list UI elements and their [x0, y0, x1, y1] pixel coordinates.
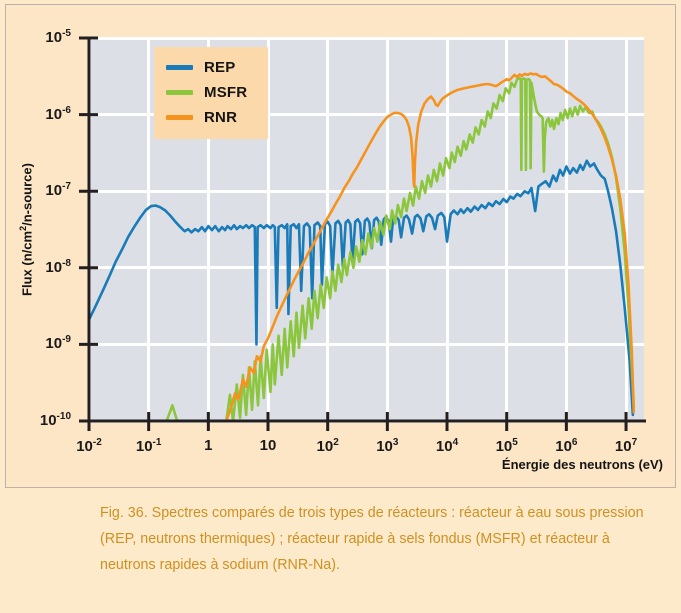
figure-caption: Fig. 36. Spectres comparés de trois type…	[100, 500, 660, 578]
legend-label-rnr: RNR	[204, 109, 237, 126]
x-tick-label-1: 10-1	[119, 438, 179, 454]
legend-label-rep: REP	[204, 59, 235, 76]
y-tick-label-1: 10-6	[45, 106, 71, 122]
legend-label-msfr: MSFR	[204, 84, 247, 101]
chart-legend[interactable]: REPMSFRRNR	[154, 47, 268, 139]
figure-container: 10-510-610-710-810-910-1010-210-11101021…	[0, 0, 681, 613]
y-tick-label-3: 10-8	[45, 259, 71, 275]
y-tick-label-5: 10-10	[40, 412, 71, 428]
x-tick-label-4: 102	[298, 438, 358, 454]
x-tick-label-7: 105	[477, 438, 537, 454]
y-tick-label-4: 10-9	[45, 335, 71, 351]
legend-swatch-rnr	[166, 115, 193, 120]
y-tick-label-0: 10-5	[45, 29, 71, 45]
series-line-rep	[89, 161, 633, 415]
y-axis-label: Flux (n/cm2/n-source)	[18, 38, 34, 421]
x-tick-label-6: 104	[417, 438, 477, 454]
x-tick-label-0: 10-2	[59, 438, 119, 454]
y-tick-label-2: 10-7	[45, 182, 71, 198]
legend-swatch-msfr	[166, 90, 193, 95]
legend-item-rnr[interactable]: RNR	[154, 105, 268, 130]
x-tick-label-3: 10	[238, 438, 298, 453]
x-tick-label-2: 1	[178, 438, 238, 453]
x-tick-label-8: 106	[536, 438, 596, 454]
chart-panel: 10-510-610-710-810-910-1010-210-11101021…	[5, 4, 676, 488]
legend-item-rep[interactable]: REP	[154, 55, 268, 80]
x-axis-label: Énergie des neutrons (eV)	[502, 457, 663, 472]
legend-item-msfr[interactable]: MSFR	[154, 80, 268, 105]
x-tick-label-5: 103	[357, 438, 417, 454]
x-tick-label-9: 107	[596, 438, 656, 454]
legend-swatch-rep	[166, 65, 193, 70]
